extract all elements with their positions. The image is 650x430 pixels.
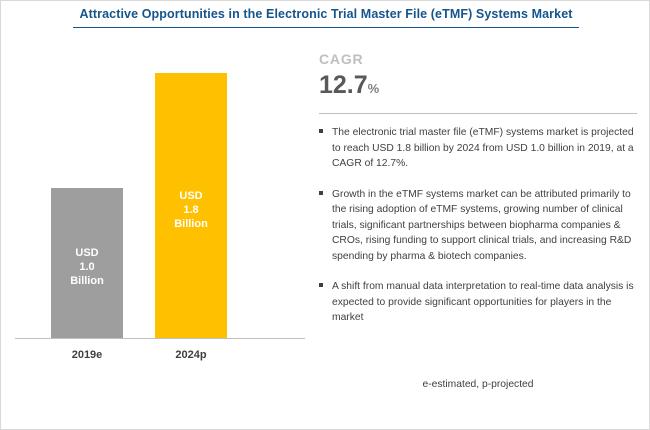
bullet-text: The electronic trial master file (eTMF) … — [332, 127, 634, 169]
bullet-list: The electronic trial master file (eTMF) … — [319, 125, 637, 341]
page-title: Attractive Opportunities in the Electron… — [1, 7, 650, 21]
panel-divider — [319, 113, 637, 114]
bar-2024p-label: USD 1.8 Billion — [155, 189, 227, 231]
bar-2024p: USD 1.8 Billion — [155, 73, 227, 338]
bullet-square-icon — [319, 283, 323, 287]
cagr-number: 12.7 — [319, 71, 368, 99]
cagr-percent-sign: % — [368, 81, 380, 96]
bullet-text: Growth in the eTMF systems market can be… — [332, 189, 631, 262]
bullet-square-icon — [319, 129, 323, 133]
list-item: Growth in the eTMF systems market can be… — [319, 187, 637, 265]
cagr-label: CAGR — [319, 51, 363, 67]
bar-chart: USD 1.0 Billion USD 1.8 Billion 2019e 20… — [15, 43, 305, 373]
list-item: A shift from manual data interpretation … — [319, 279, 637, 326]
footnote: e-estimated, p-projected — [319, 379, 637, 390]
summary-panel: CAGR 12.7% The electronic trial master f… — [319, 51, 637, 351]
bullet-square-icon — [319, 191, 323, 195]
x-tick-2024p: 2024p — [155, 349, 227, 361]
infographic-page: Attractive Opportunities in the Electron… — [0, 0, 650, 430]
bar-2019e: USD 1.0 Billion — [51, 188, 123, 338]
bullet-text: A shift from manual data interpretation … — [332, 281, 634, 323]
cagr-value: 12.7% — [319, 71, 379, 100]
x-axis-line — [15, 338, 305, 339]
bar-2019e-label: USD 1.0 Billion — [51, 246, 123, 288]
list-item: The electronic trial master file (eTMF) … — [319, 125, 637, 172]
x-tick-2019e: 2019e — [51, 349, 123, 361]
title-divider — [73, 27, 579, 28]
